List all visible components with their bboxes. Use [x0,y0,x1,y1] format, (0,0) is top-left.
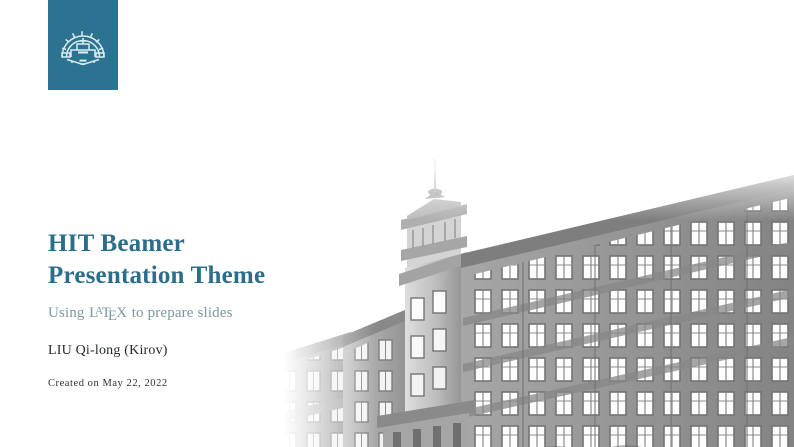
latex-wordmark: LATEX [89,305,127,325]
subtitle-suffix: to prepare slides [132,305,233,322]
hit-university-emblem-icon [57,19,109,71]
hit-university-logo [48,0,118,90]
author-name: LIU Qi-long (Kirov) [48,343,468,359]
slide-subtitle: Using LATEX to prepare slides [48,305,468,325]
latex-letter-x: X [116,305,127,321]
creation-date: Created on May 22, 2022 [48,378,468,389]
beamer-title-slide: HIT Beamer Presentation Theme Using LATE… [0,0,794,447]
subtitle-prefix: Using [48,305,85,322]
page-title: HIT Beamer Presentation Theme [48,228,468,291]
title-block: HIT Beamer Presentation Theme Using LATE… [48,228,468,389]
